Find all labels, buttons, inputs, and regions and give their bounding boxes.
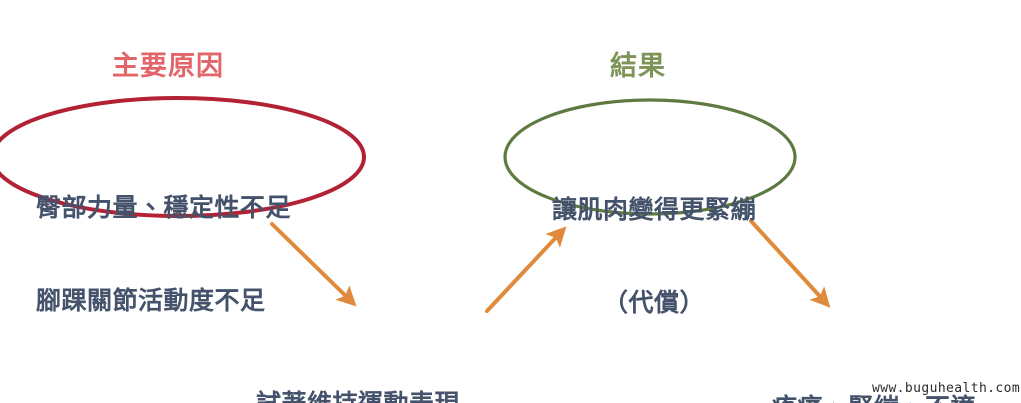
effort-node-line-1: 試著維持運動表現 xyxy=(234,389,482,403)
diagram-canvas: 主要原因 結果 臀部力量、穩定性不足 腳踝關節活動度不足 讓肌肉變得更緊繃 （代… xyxy=(0,0,1021,403)
result-node-text: 讓肌肉變得更緊繃 （代償） xyxy=(520,133,788,381)
effort-node-text: 試著維持運動表現 或要繼續日常生活 xyxy=(234,327,482,403)
cause-heading: 主要原因 xyxy=(112,44,224,83)
cause-node-line-2: 腳踝關節活動度不足 xyxy=(36,286,291,317)
cause-node-line-1: 臀部力量、穩定性不足 xyxy=(36,193,291,224)
result-node-line-2: （代償） xyxy=(520,288,788,319)
watermark: www.buguhealth.com xyxy=(872,381,1020,396)
result-node-line-1: 讓肌肉變得更緊繃 xyxy=(520,195,788,226)
result-heading: 結果 xyxy=(610,44,666,83)
